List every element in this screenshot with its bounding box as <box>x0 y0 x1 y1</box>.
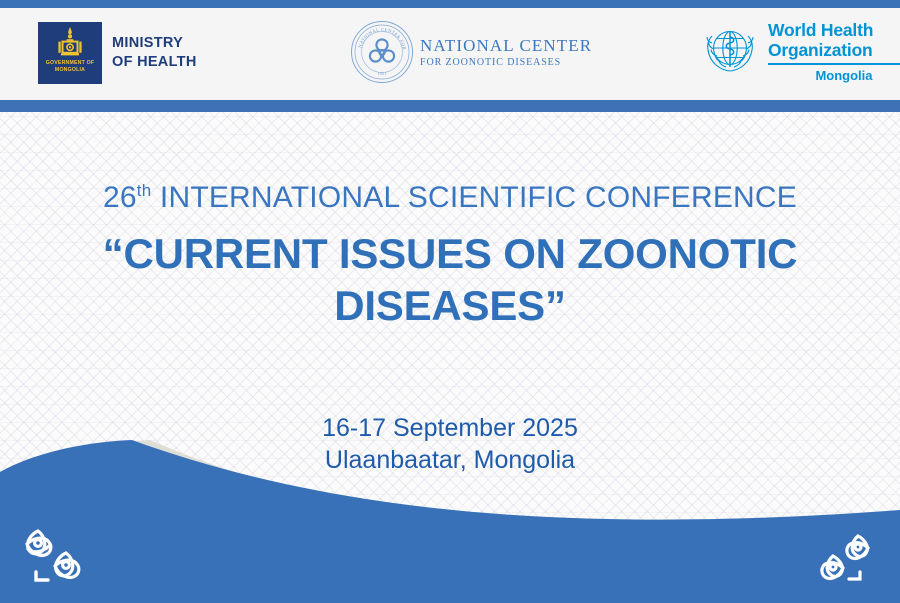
ministry-of-health-text: MINISTRY OF HEALTH <box>112 34 197 72</box>
top-accent-strip <box>0 0 900 8</box>
page-title-line2: DISEASES” <box>334 282 566 329</box>
conference-title-slide: GOVERNMENT OF MONGOLIA MINISTRY OF HEALT… <box>0 0 900 603</box>
conference-number: 26 <box>103 181 137 214</box>
conference-ordinal-line: 26th INTERNATIONAL SCIENTIFIC CONFERENCE <box>0 178 900 218</box>
nczd-wordmark: NATIONAL CENTER FOR ZOONOTIC DISEASES <box>420 36 592 69</box>
national-center-zoonotic-diseases-logo: NATIONAL CENTER FOR ZOONOTIC DISEASES 19… <box>350 20 592 84</box>
who-emblem-icon <box>700 23 760 81</box>
who-wordmark: World Health Organization Mongolia <box>768 20 900 83</box>
nczd-wordmark-line2: FOR ZOONOTIC DISEASES <box>420 56 592 69</box>
header-divider-bar <box>0 100 900 112</box>
ministry-emblem-caption-line2: MONGOLIA <box>55 67 85 73</box>
soyombo-emblem: GOVERNMENT OF MONGOLIA <box>38 22 102 84</box>
mongolian-endless-knot-left <box>14 522 90 588</box>
who-mongolia-logo: World Health Organization Mongolia <box>700 20 900 83</box>
who-country-label: Mongolia <box>768 68 900 83</box>
ministry-of-health-logo: GOVERNMENT OF MONGOLIA MINISTRY OF HEALT… <box>38 22 197 84</box>
ministry-label-line2: OF HEALTH <box>112 54 197 70</box>
svg-text:NATIONAL CENTER FOR ZOONOTIC D: NATIONAL CENTER FOR ZOONOTIC DISEASES <box>350 20 407 52</box>
who-divider-rule <box>768 63 900 65</box>
page-title-line1: “CURRENT ISSUES ON ZOONOTIC <box>103 230 798 277</box>
mongolian-endless-knot-right <box>812 528 878 586</box>
nczd-wordmark-line1: NATIONAL CENTER <box>420 36 592 56</box>
conference-subtitle: INTERNATIONAL SCIENTIFIC CONFERENCE <box>160 181 797 214</box>
ministry-emblem-caption-line1: GOVERNMENT OF <box>46 60 94 66</box>
who-wordmark-line2: Organization <box>768 40 900 60</box>
conference-ordinal-suffix: th <box>137 181 152 200</box>
page-title: “CURRENT ISSUES ON ZOONOTIC DISEASES” <box>70 228 830 332</box>
ministry-label-line1: MINISTRY <box>112 35 183 51</box>
who-wordmark-line1: World Health <box>768 20 900 40</box>
biohazard-seal-icon: NATIONAL CENTER FOR ZOONOTIC DISEASES 19… <box>350 20 414 84</box>
svg-text:1951: 1951 <box>378 71 387 76</box>
soyombo-emblem-icon <box>53 27 87 59</box>
footer-wave-decoration <box>0 440 900 603</box>
ministry-emblem-caption: GOVERNMENT OF MONGOLIA <box>38 60 102 74</box>
footer-wave-primary <box>0 440 900 603</box>
